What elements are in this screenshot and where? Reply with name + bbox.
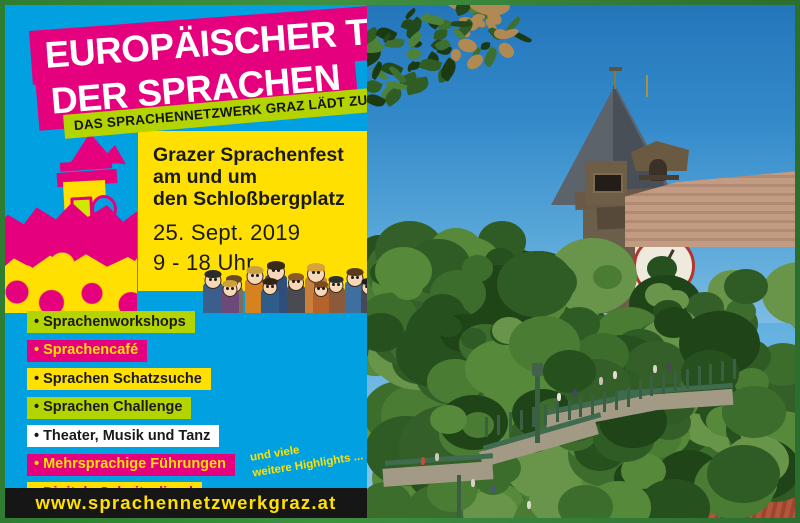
event-headline-line1: Grazer Sprachenfest xyxy=(153,131,367,167)
activity-item: •Theater, Musik und Tanz xyxy=(27,425,219,447)
tower-finial xyxy=(646,75,648,97)
bullet-dot-icon: • xyxy=(34,371,39,387)
cartoon-person xyxy=(327,276,345,315)
bullet-dot-icon: • xyxy=(34,342,39,358)
weather-vane-icon xyxy=(609,67,622,71)
cartoon-person-eye xyxy=(214,278,217,281)
railing-post xyxy=(662,374,665,394)
railing-post xyxy=(603,392,606,412)
uhrturm-photograph xyxy=(367,5,795,518)
railing-post xyxy=(544,405,547,425)
bullet-dot-icon: • xyxy=(34,399,39,415)
cartoon-person-eye xyxy=(317,271,320,274)
activity-label: Sprachen Challenge xyxy=(43,399,182,415)
cartoon-person-eye xyxy=(322,287,325,290)
cartoon-person-eye xyxy=(292,280,295,283)
railing-post xyxy=(579,397,582,417)
leaf xyxy=(367,77,383,95)
person-on-stairs xyxy=(653,365,657,373)
activity-item: •Sprachencafé xyxy=(27,340,147,362)
foliage-cluster xyxy=(558,485,613,518)
railing-post xyxy=(709,364,712,384)
foliage-cluster xyxy=(593,265,622,289)
lamp-post-lower xyxy=(457,475,461,518)
cartoon-person-hair xyxy=(307,263,325,272)
activity-item: •Mehrsprachige Führungen xyxy=(27,454,235,476)
cartoon-person-hair xyxy=(267,261,285,270)
railing-post xyxy=(627,387,630,407)
cartoon-person-eye xyxy=(312,271,315,274)
lamp-post xyxy=(535,373,540,443)
cartoon-person-eye xyxy=(272,269,275,272)
leaf xyxy=(464,52,485,72)
activity-label: Sprachen Schatzsuche xyxy=(43,371,202,387)
railing-post xyxy=(485,417,488,437)
railing-post xyxy=(497,415,500,435)
railing-post xyxy=(591,395,594,415)
person-on-stairs xyxy=(471,479,475,487)
website-url: www.sprachennetzwerkgraz.at xyxy=(5,488,367,518)
foliage-cluster xyxy=(430,405,466,434)
popart-clock-tower-illustration xyxy=(5,123,137,313)
lamp-head-icon xyxy=(532,363,543,376)
railing-post xyxy=(674,371,677,391)
cartoon-person-hair xyxy=(205,270,222,278)
bullet-dot-icon: • xyxy=(34,314,39,330)
activity-item: •Sprachen Challenge xyxy=(27,397,191,419)
person-on-stairs xyxy=(613,371,617,379)
tower-spire xyxy=(614,69,616,89)
cartoon-person-eye xyxy=(256,274,259,277)
poster-footer: www.sprachennetzwerkgraz.at xyxy=(5,488,367,518)
foliage-cluster xyxy=(435,316,462,337)
cartoon-people-row xyxy=(201,263,367,315)
railing-post xyxy=(520,410,523,430)
person-on-stairs xyxy=(527,501,531,509)
cartoon-person-eye xyxy=(351,276,354,279)
activity-label: Theater, Musik und Tanz xyxy=(43,428,210,444)
railing-post xyxy=(639,379,642,399)
person-on-stairs xyxy=(667,363,671,371)
railing-post xyxy=(698,366,701,386)
activity-label: Sprachenworkshops xyxy=(43,314,186,330)
person-on-stairs xyxy=(435,453,439,461)
bell-beam xyxy=(639,175,679,180)
poster-photo-composite: Grazer Sprachenfest am und um den Schloß… xyxy=(0,0,800,523)
foliage-cluster xyxy=(497,251,574,316)
cartoon-person-eye xyxy=(337,283,340,286)
cartoon-person-hair xyxy=(263,278,278,285)
cartoon-person xyxy=(287,273,305,315)
cartoon-person-eye xyxy=(356,276,359,279)
person-on-stairs xyxy=(599,377,603,385)
cartoon-person-eye xyxy=(332,283,335,286)
cartoon-person-eye xyxy=(277,269,280,272)
cartoon-person-eye xyxy=(266,285,269,288)
foliage-cluster xyxy=(654,307,693,338)
person-on-stairs xyxy=(557,393,561,401)
cartoon-person-hair xyxy=(288,273,304,281)
cartoon-person-hair xyxy=(329,276,344,283)
cartoon-person-hair xyxy=(314,281,328,288)
cartoon-person xyxy=(313,281,329,315)
activity-item: •Sprachen Schatzsuche xyxy=(27,368,211,390)
cartoon-person xyxy=(221,280,239,315)
cartoon-person xyxy=(203,270,223,315)
cartoon-person-eye xyxy=(209,278,212,281)
event-poster: Grazer Sprachenfest am und um den Schloß… xyxy=(5,5,367,518)
leaf xyxy=(496,40,517,61)
railing-post xyxy=(650,376,653,396)
bullet-dot-icon: • xyxy=(34,428,39,444)
person-on-stairs xyxy=(573,389,577,397)
event-headline-line2: am und um xyxy=(153,167,367,189)
person-on-stairs xyxy=(421,457,425,465)
cartoon-person-eye xyxy=(271,285,274,288)
activity-item: •Sprachenworkshops xyxy=(27,311,195,333)
cartoon-person-eye xyxy=(226,287,229,290)
event-date: 25. Sept. 2019 xyxy=(153,220,367,246)
foliage-cluster xyxy=(375,247,432,295)
person-on-stairs xyxy=(491,485,495,493)
cartoon-person xyxy=(261,278,279,315)
leaf xyxy=(405,46,422,63)
event-headline-line3: den Schloßbergplatz xyxy=(153,189,367,211)
tower-window xyxy=(593,173,623,193)
foliage-cluster xyxy=(724,269,768,305)
railing-post xyxy=(509,412,512,432)
composite-inner: Grazer Sprachenfest am und um den Schloß… xyxy=(5,5,795,518)
railing-post xyxy=(568,400,571,420)
railing-post xyxy=(615,390,618,410)
railing-post xyxy=(733,359,736,379)
activity-label: Mehrsprachige Führungen xyxy=(43,456,226,472)
cartoon-person-eye xyxy=(297,280,300,283)
cartoon-person-hair xyxy=(347,268,364,276)
cartoon-person-hair xyxy=(223,280,238,287)
railing-post xyxy=(556,402,559,422)
bullet-dot-icon: • xyxy=(34,456,39,472)
cartoon-person-eye xyxy=(231,287,234,290)
activities-list: •Sprachenworkshops•Sprachencafé•Sprachen… xyxy=(27,311,267,511)
cartoon-person-hair xyxy=(247,266,264,274)
activity-label: Sprachencafé xyxy=(43,342,138,358)
cartoon-person-eye xyxy=(251,274,254,277)
railing-post xyxy=(686,369,689,389)
tree-branch xyxy=(367,5,531,114)
cartoon-person-eye xyxy=(317,287,320,290)
railing-post xyxy=(721,361,724,381)
